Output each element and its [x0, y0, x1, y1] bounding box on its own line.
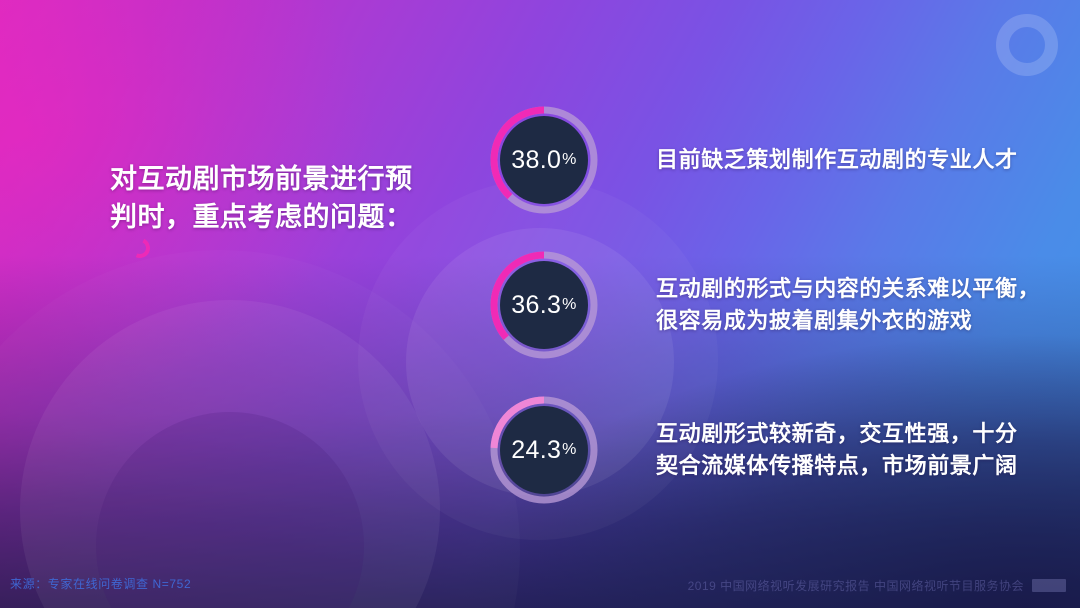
donut-list: 38.0% 目前缺乏策划制作互动剧的专业人才 36.3% 互动剧的形式与内容: [0, 0, 1080, 608]
list-item-text-2: 互动剧形式较新奇，交互性强，十分 契合流媒体传播特点，市场前景广阔: [656, 418, 1018, 483]
list-item: 24.3% 互动剧形式较新奇，交互性强，十分 契合流媒体传播特点，市场前景广阔: [486, 392, 1018, 508]
list-item-text-1: 互动剧的形式与内容的关系难以平衡， 很容易成为披着剧集外衣的游戏: [656, 273, 1040, 338]
donut-value-number-2: 24.3: [511, 436, 561, 465]
report-credit-text: 2019 中国网络视听发展研究报告 中国网络视听节目服务协会: [688, 577, 1024, 594]
report-badge: [1032, 579, 1066, 592]
donut-value-number-0: 38.0: [511, 146, 561, 175]
donut-chart-1: 36.3%: [486, 247, 602, 363]
donut-value-1: 36.3%: [486, 247, 602, 363]
list-item-text-0: 目前缺乏策划制作互动剧的专业人才: [656, 144, 1018, 176]
donut-value-suffix-0: %: [562, 151, 577, 169]
donut-chart-2: 24.3%: [486, 392, 602, 508]
list-item: 36.3% 互动剧的形式与内容的关系难以平衡， 很容易成为披着剧集外衣的游戏: [486, 247, 1040, 363]
list-item-text-0-line-1: 目前缺乏策划制作互动剧的专业人才: [656, 144, 1018, 176]
list-item-text-1-line-2: 很容易成为披着剧集外衣的游戏: [656, 305, 1040, 337]
list-item: 38.0% 目前缺乏策划制作互动剧的专业人才: [486, 102, 1018, 218]
donut-value-suffix-2: %: [562, 441, 577, 459]
donut-chart-0: 38.0%: [486, 102, 602, 218]
list-item-text-1-line-1: 互动剧的形式与内容的关系难以平衡，: [656, 273, 1040, 305]
report-credit: 2019 中国网络视听发展研究报告 中国网络视听节目服务协会: [688, 577, 1066, 594]
donut-value-2: 24.3%: [486, 392, 602, 508]
donut-value-0: 38.0%: [486, 102, 602, 218]
list-item-text-2-line-2: 契合流媒体传播特点，市场前景广阔: [656, 450, 1018, 482]
slide-root: 对互动剧市场前景进行预 判时，重点考虑的问题： 38.0% 目前缺乏策划制作互动…: [0, 0, 1080, 608]
donut-value-number-1: 36.3: [511, 291, 561, 320]
donut-value-suffix-1: %: [562, 296, 577, 314]
source-note: 来源：专家在线问卷调查 N=752: [10, 575, 191, 592]
list-item-text-2-line-1: 互动剧形式较新奇，交互性强，十分: [656, 418, 1018, 450]
